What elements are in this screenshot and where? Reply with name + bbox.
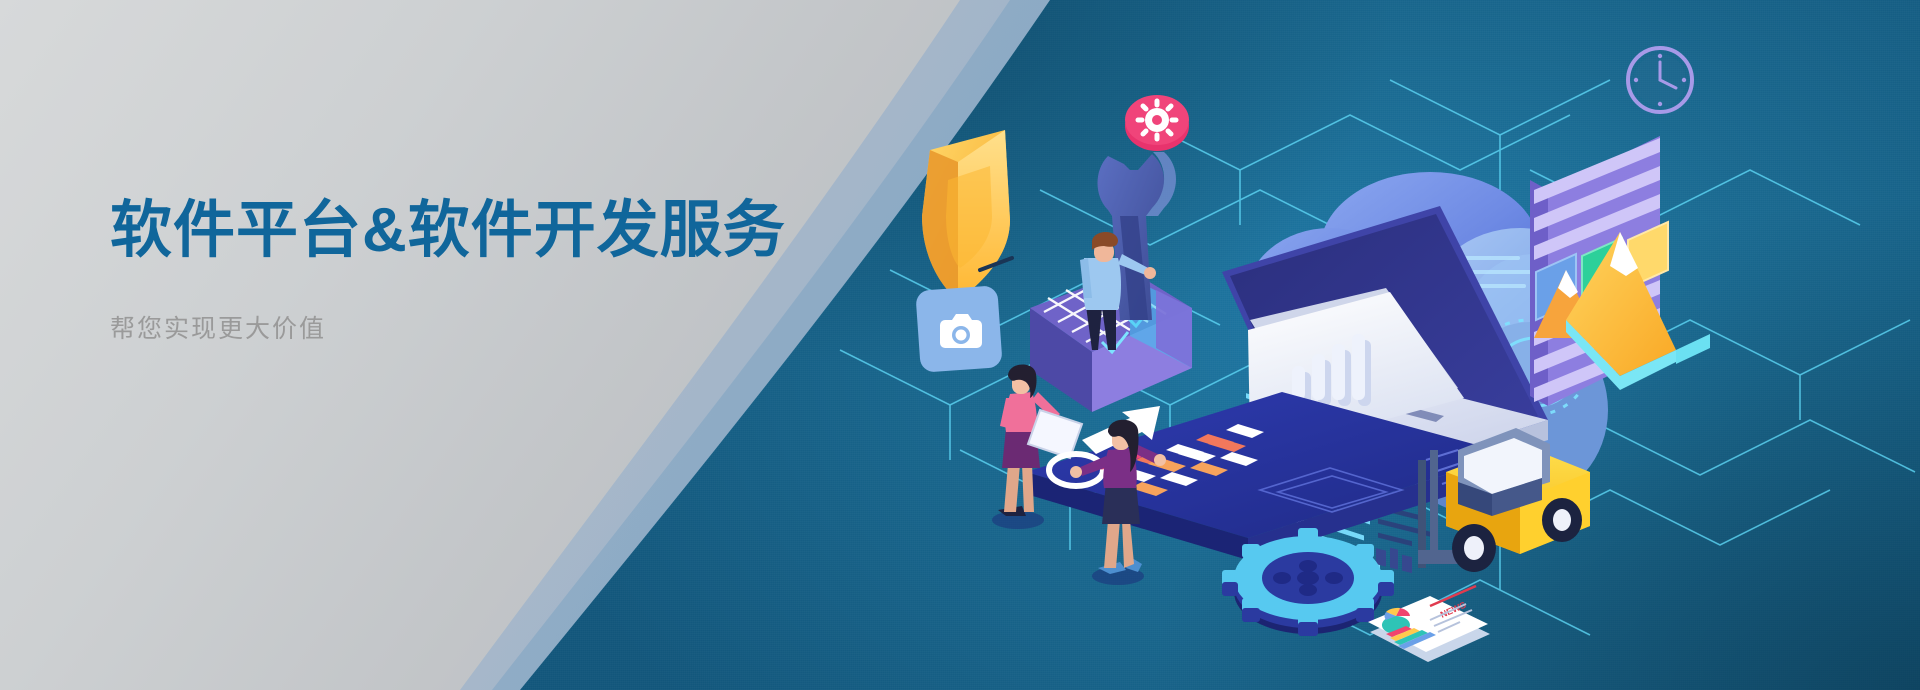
security-shield-icon (922, 130, 1010, 300)
wall-clock-icon (1628, 48, 1692, 112)
isometric-gears-icon (1222, 528, 1394, 636)
hero-illustration: NEWS (830, 20, 1920, 690)
settings-gear-badge (1125, 95, 1189, 151)
hero-banner: 软件平台&软件开发服务 帮您实现更大价值 (0, 0, 1920, 690)
page-subtitle: 帮您实现更大价值 (110, 309, 890, 345)
news-report-document: NEWS (1368, 586, 1490, 662)
copy-block: 软件平台&软件开发服务 帮您实现更大价值 (110, 196, 890, 345)
page-title: 软件平台&软件开发服务 (110, 196, 890, 265)
